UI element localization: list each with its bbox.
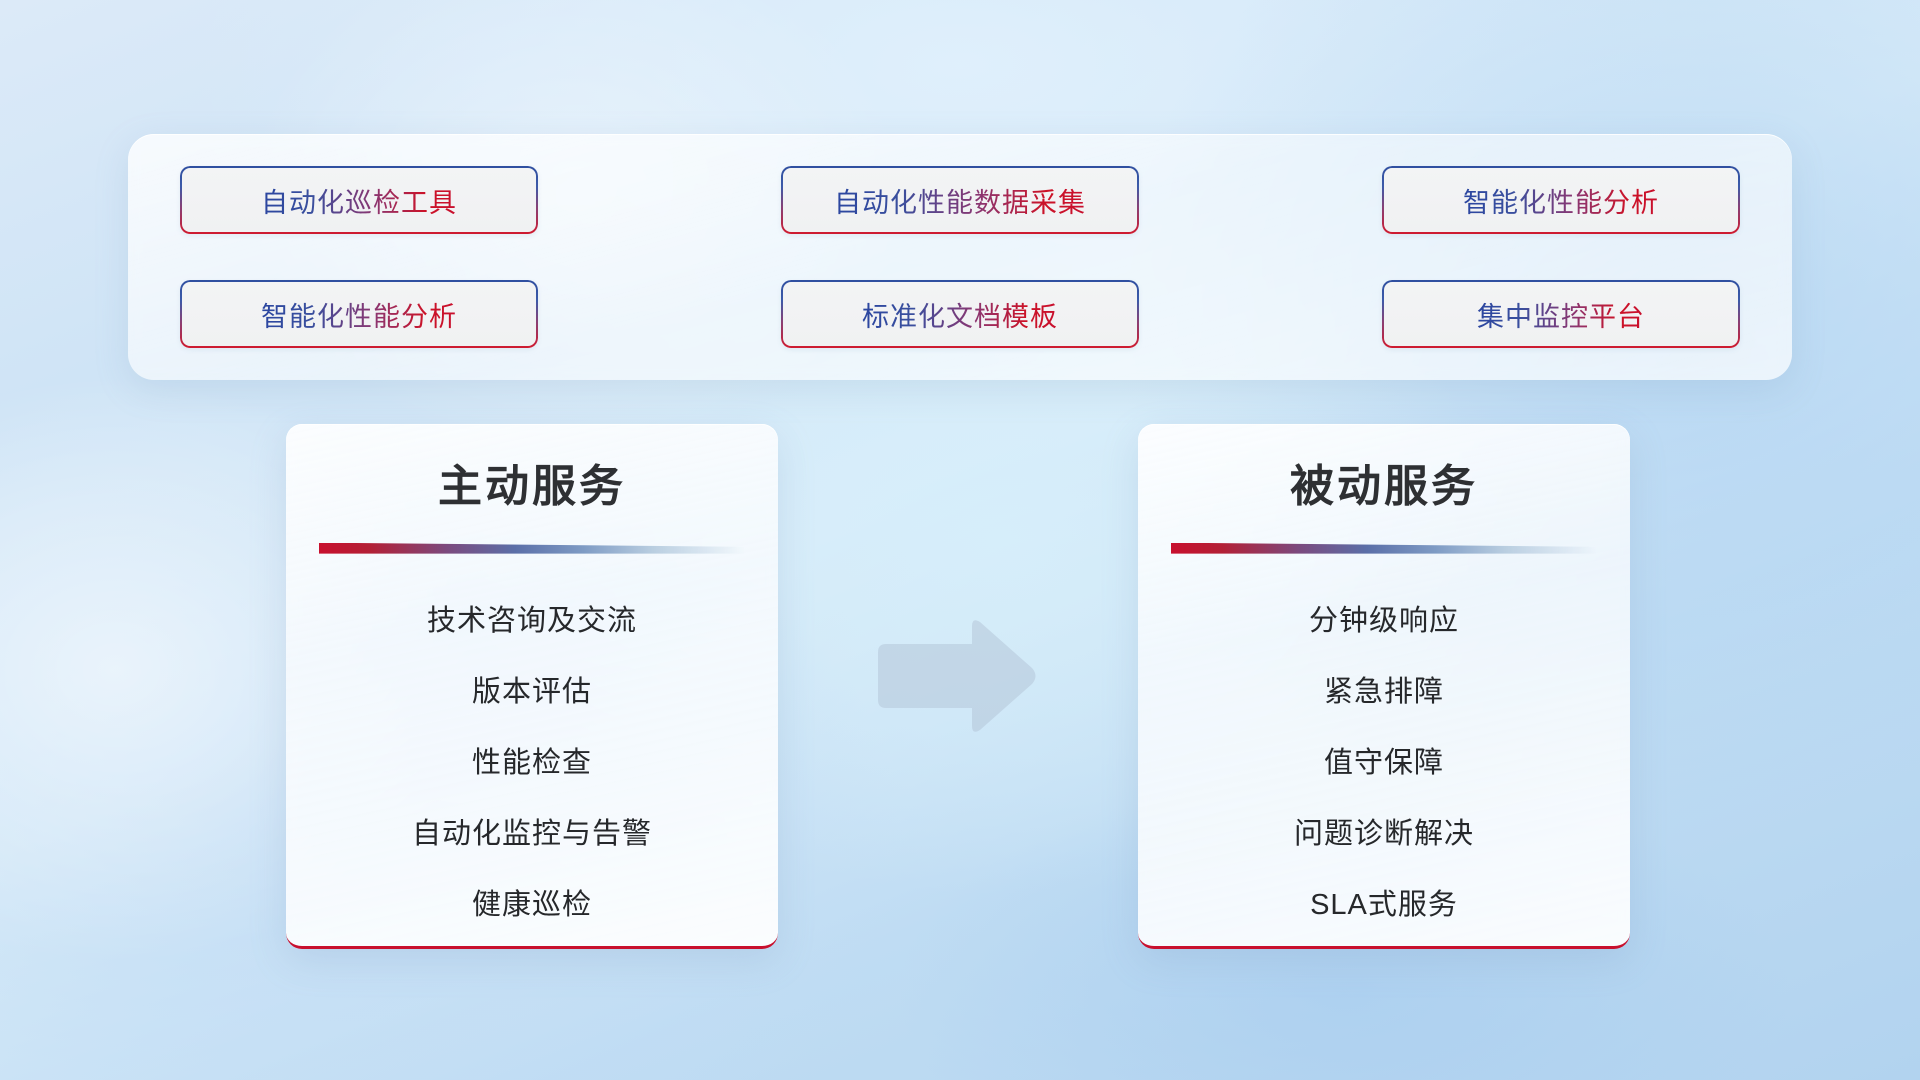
capability-tag[interactable]: 集中监控平台 bbox=[1382, 280, 1740, 348]
capability-tags-panel: 自动化巡检工具 自动化性能数据采集 智能化性能分析 智能化性能分析 标准化文档模… bbox=[128, 134, 1792, 380]
capability-tag[interactable]: 智能化性能分析 bbox=[180, 280, 538, 348]
capability-tag-row-1: 自动化巡检工具 自动化性能数据采集 智能化性能分析 bbox=[180, 166, 1740, 234]
capability-tag-label: 智能化性能分析 bbox=[261, 295, 457, 334]
list-item: 自动化监控与告警 bbox=[286, 799, 778, 870]
list-item: 问题诊断解决 bbox=[1138, 799, 1630, 870]
capability-tag[interactable]: 标准化文档模板 bbox=[781, 280, 1139, 348]
capability-tag-label: 标准化文档模板 bbox=[862, 295, 1058, 334]
arrow-right-icon bbox=[872, 616, 1040, 738]
capability-tag-label: 集中监控平台 bbox=[1477, 295, 1645, 334]
service-card-title: 被动服务 bbox=[1138, 462, 1630, 513]
capability-tag-row-2: 智能化性能分析 标准化文档模板 集中监控平台 bbox=[180, 280, 1740, 348]
capability-tag-label: 自动化性能数据采集 bbox=[834, 181, 1086, 220]
service-card-active: 主动服务 技术咨询及交流 版本评估 性能检查 自动化监控与告警 健康巡检 bbox=[286, 424, 778, 949]
service-item-list: 技术咨询及交流 版本评估 性能检查 自动化监控与告警 健康巡检 bbox=[286, 586, 778, 941]
capability-tag-label: 自动化巡检工具 bbox=[261, 181, 457, 220]
list-item: SLA式服务 bbox=[1138, 870, 1630, 941]
list-item: 值守保障 bbox=[1138, 728, 1630, 799]
title-gradient-rule bbox=[1171, 543, 1597, 554]
service-card-title: 主动服务 bbox=[286, 462, 778, 513]
list-item: 技术咨询及交流 bbox=[286, 586, 778, 657]
list-item: 紧急排障 bbox=[1138, 657, 1630, 728]
title-gradient-rule bbox=[319, 543, 745, 554]
capability-tag[interactable]: 智能化性能分析 bbox=[1382, 166, 1740, 234]
service-card-passive: 被动服务 分钟级响应 紧急排障 值守保障 问题诊断解决 SLA式服务 bbox=[1138, 424, 1630, 949]
capability-tag[interactable]: 自动化巡检工具 bbox=[180, 166, 538, 234]
slide-canvas: 自动化巡检工具 自动化性能数据采集 智能化性能分析 智能化性能分析 标准化文档模… bbox=[0, 0, 1920, 1080]
list-item: 健康巡检 bbox=[286, 870, 778, 941]
list-item: 分钟级响应 bbox=[1138, 586, 1630, 657]
list-item: 性能检查 bbox=[286, 728, 778, 799]
capability-tag[interactable]: 自动化性能数据采集 bbox=[781, 166, 1139, 234]
service-item-list: 分钟级响应 紧急排障 值守保障 问题诊断解决 SLA式服务 bbox=[1138, 586, 1630, 941]
list-item: 版本评估 bbox=[286, 657, 778, 728]
capability-tag-label: 智能化性能分析 bbox=[1463, 181, 1659, 220]
